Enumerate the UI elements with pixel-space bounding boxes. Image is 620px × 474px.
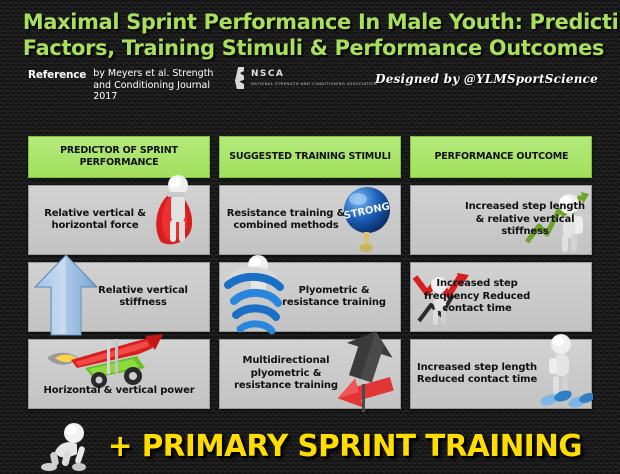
column-header-outcome: PERFORMANCE OUTCOME — [410, 136, 592, 178]
cell-predictor-3: Horizontal & vertical power — [28, 339, 210, 409]
infographic-poster: Maximal Sprint Performance In Male Youth… — [0, 0, 620, 474]
cell-stimulus-2-label: Plyometric & resistance training — [220, 285, 400, 310]
cell-predictor-1: Relative vertical & horizontal force — [28, 185, 210, 255]
title-line-2: Factors, Training Stimuli & Performance … — [23, 36, 597, 62]
cell-predictor-3-label: Horizontal & vertical power — [29, 351, 209, 398]
cell-outcome-3: Increased step length Reduced contact ti… — [410, 339, 592, 409]
reference-label: Reference — [28, 68, 86, 81]
banner-label: + PRIMARY SPRINT TRAINING — [108, 429, 582, 464]
content-grid: PREDICTOR OF SPRINT PERFORMANCE SUGGESTE… — [28, 136, 592, 409]
bottom-banner: + PRIMARY SPRINT TRAINING — [0, 418, 620, 474]
column-header-stimuli: SUGGESTED TRAINING STIMULI — [219, 136, 401, 178]
nsca-logo-name: NSCA — [251, 70, 377, 79]
title-line-1: Maximal Sprint Performance In Male Youth… — [23, 10, 597, 36]
cell-stimulus-3-label: Multidirectional plyometric & resistance… — [220, 355, 400, 393]
column-header-stimuli-label: SUGGESTED TRAINING STIMULI — [229, 151, 391, 163]
credits-row: Reference by Meyers et al. Strength and … — [0, 68, 620, 102]
nsca-logo-subtitle: NATIONAL STRENGTH AND CONDITIONING ASSOC… — [251, 81, 377, 86]
page-title: Maximal Sprint Performance In Male Youth… — [0, 0, 620, 62]
cell-stimulus-1-label: Resistance training & combined methods — [220, 208, 400, 233]
column-header-predictor: PREDICTOR OF SPRINT PERFORMANCE — [28, 136, 210, 178]
nsca-logo: NSCA NATIONAL STRENGTH AND CONDITIONING … — [232, 67, 377, 89]
reference-citation: by Meyers et al. Strength and Conditioni… — [93, 68, 228, 103]
cell-predictor-1-label: Relative vertical & horizontal force — [29, 208, 209, 233]
cell-stimulus-2: Plyometric & resistance training — [219, 262, 401, 332]
designed-by-credit: Designed by @YLMSportScience — [375, 72, 598, 86]
cell-outcome-3-label: Increased step length Reduced contact ti… — [411, 362, 591, 387]
cell-outcome-2: Increased step frequency Reduced contact… — [410, 262, 592, 332]
crouching-start-figure-icon — [33, 420, 99, 472]
cell-predictor-2-label: Relative vertical stiffness — [29, 285, 209, 310]
cell-stimulus-3: Multidirectional plyometric & resistance… — [219, 339, 401, 409]
cell-predictor-2: Relative vertical stiffness — [28, 262, 210, 332]
column-header-predictor-label: PREDICTOR OF SPRINT PERFORMANCE — [34, 145, 205, 169]
reference-block: Reference by Meyers et al. Strength and … — [28, 68, 228, 103]
column-header-outcome-label: PERFORMANCE OUTCOME — [434, 151, 568, 163]
cell-outcome-2-label: Increased step frequency Reduced contact… — [411, 278, 591, 316]
cell-outcome-1-label: Increased step length & relative vertica… — [411, 201, 591, 239]
cell-outcome-1: Increased step length & relative vertica… — [410, 185, 592, 255]
cell-stimulus-1: Resistance training & combined methods S… — [219, 185, 401, 255]
nsca-emblem-icon — [232, 67, 248, 89]
